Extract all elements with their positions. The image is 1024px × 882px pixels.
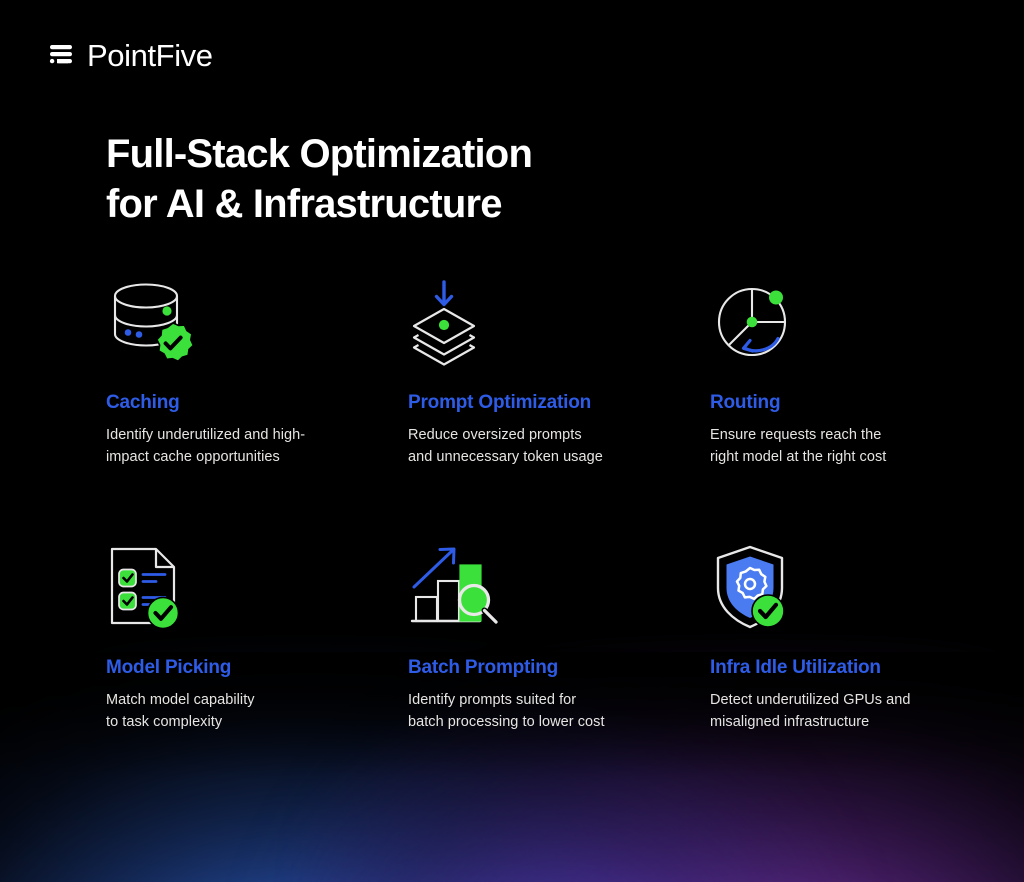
feature-description: Match model capability to task complexit…: [106, 689, 382, 733]
database-cylinder-gear-check-icon: [106, 278, 382, 376]
stacked-layers-down-arrow-icon: [408, 278, 684, 376]
feature-card-batch-prompting: Batch Prompting Identify prompts suited …: [408, 543, 684, 733]
document-checklist-check-icon: [106, 543, 382, 641]
slide-canvas: PointFive Full-Stack Optimization for AI…: [0, 0, 1024, 882]
page-title: Full-Stack Optimization for AI & Infrast…: [106, 130, 532, 229]
feature-card-prompt-optimization: Prompt Optimization Reduce oversized pro…: [408, 278, 684, 543]
shield-gear-check-icon: [710, 543, 986, 641]
pointfive-five-mark-icon: [44, 38, 78, 72]
feature-title: Routing: [710, 392, 986, 415]
feature-title: Caching: [106, 392, 382, 415]
feature-title: Prompt Optimization: [408, 392, 684, 415]
feature-description: Detect underutilized GPUs and misaligned…: [710, 689, 986, 733]
feature-grid: Caching Identify underutilized and high-…: [106, 278, 968, 733]
feature-card-infra-idle-utilization: Infra Idle Utilization Detect underutili…: [710, 543, 986, 733]
feature-card-routing: Routing Ensure requests reach the right …: [710, 278, 986, 543]
feature-title: Batch Prompting: [408, 657, 684, 680]
feature-description: Ensure requests reach the right model at…: [710, 424, 986, 468]
feature-card-model-picking: Model Picking Match model capability to …: [106, 543, 382, 733]
feature-title: Infra Idle Utilization: [710, 657, 986, 680]
feature-description: Identify prompts suited for batch proces…: [408, 689, 684, 733]
feature-card-caching: Caching Identify underutilized and high-…: [106, 278, 382, 543]
feature-description: Identify underutilized and high- impact …: [106, 424, 382, 468]
brand-logo: PointFive: [44, 38, 213, 72]
routing-circle-arrow-icon: [710, 278, 986, 376]
bar-chart-magnifier-trend-icon: [408, 543, 684, 641]
feature-title: Model Picking: [106, 657, 382, 680]
feature-description: Reduce oversized prompts and unnecessary…: [408, 424, 684, 468]
brand-wordmark: PointFive: [87, 40, 213, 71]
